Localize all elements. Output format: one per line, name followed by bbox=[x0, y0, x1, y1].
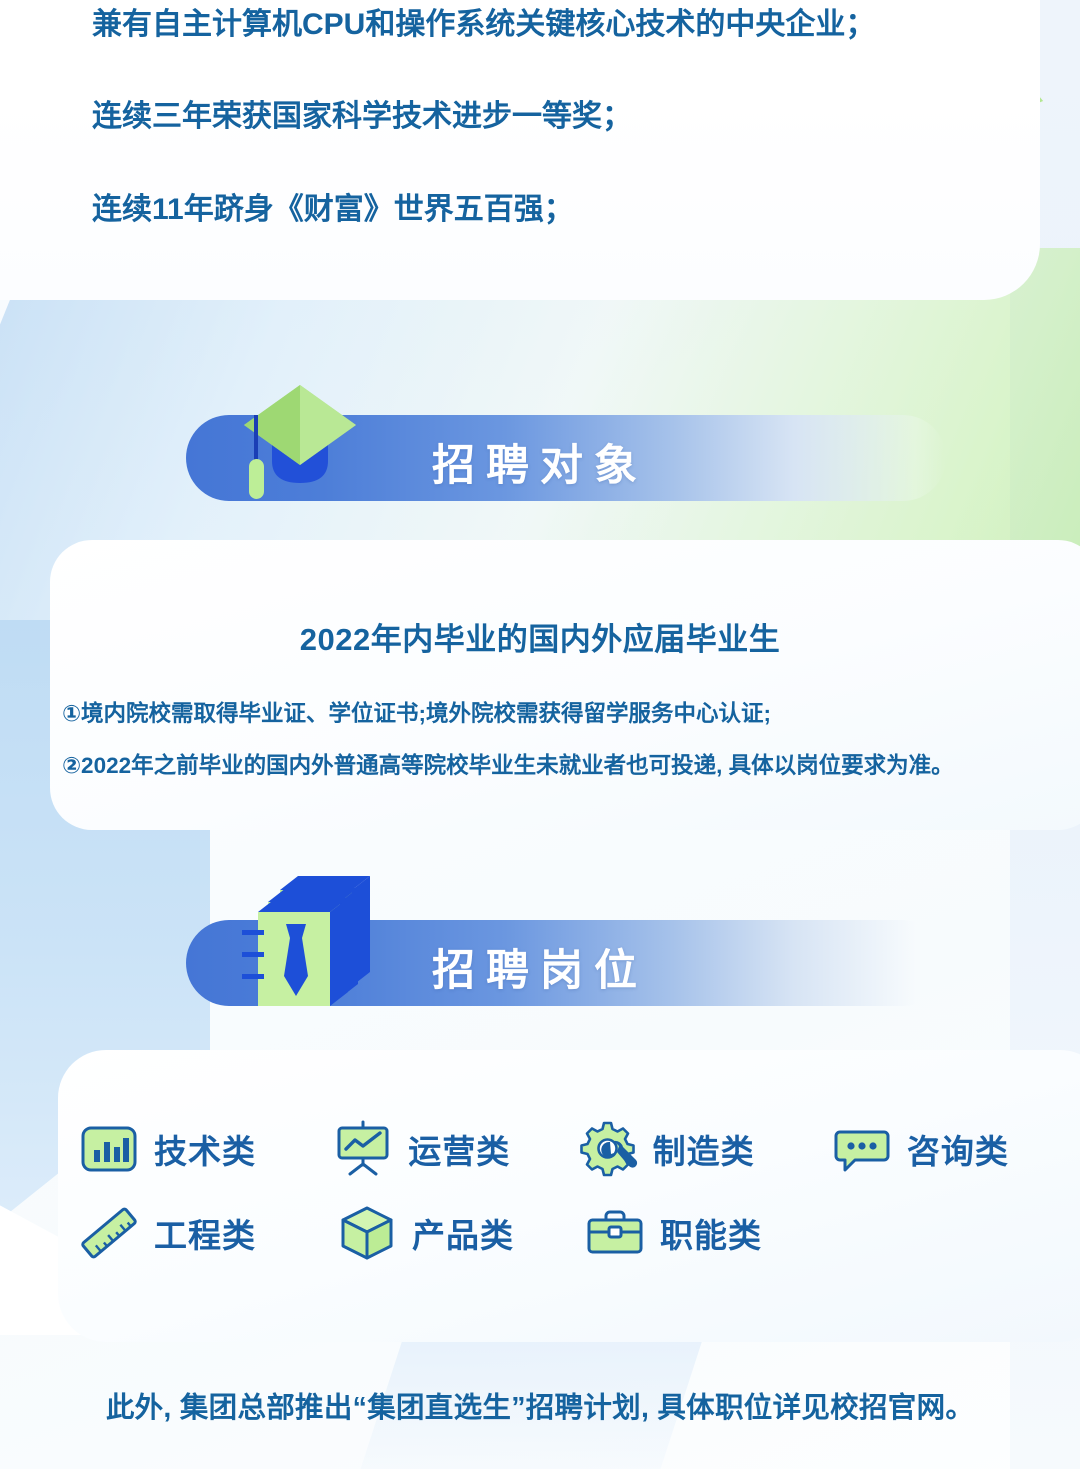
speech-bubble-icon bbox=[831, 1118, 893, 1180]
intro-text-block: 兼有自主计算机CPU和操作系统关键核心技术的中央企业； 连续三年荣获国家科学技术… bbox=[92, 6, 1032, 283]
job-category-grid: 技术类 运营类 bbox=[78, 1118, 1028, 1286]
job-category-label: 职能类 bbox=[660, 1209, 762, 1257]
target-note-2: ②2022年之前毕业的国内外普通高等院校毕业生未就业者也可投递, 具体以岗位要求… bbox=[62, 748, 1042, 780]
job-category-label: 运营类 bbox=[408, 1125, 510, 1173]
presentation-board-icon bbox=[332, 1118, 394, 1180]
bar-chart-icon bbox=[78, 1118, 140, 1180]
job-category-row: 技术类 运营类 bbox=[78, 1118, 1028, 1180]
target-note-1: ①境内院校需取得毕业证、学位证书;境外院校需获得留学服务中心认证; bbox=[62, 696, 1042, 728]
job-category-functional[interactable]: 职能类 bbox=[584, 1202, 784, 1264]
job-category-product[interactable]: 产品类 bbox=[336, 1202, 584, 1264]
cube-box-icon bbox=[336, 1202, 398, 1264]
job-category-consulting[interactable]: 咨询类 bbox=[831, 1118, 1028, 1180]
intro-line-2: 连续三年荣获国家科学技术进步一等奖； bbox=[92, 98, 1032, 136]
intro-line-3: 连续11年跻身《财富》世界五百强； bbox=[92, 191, 1032, 229]
banner-title-target: 招聘对象 bbox=[432, 431, 648, 493]
job-category-manufacturing[interactable]: 制造类 bbox=[577, 1118, 831, 1180]
job-category-label: 制造类 bbox=[653, 1125, 755, 1173]
toolbox-icon bbox=[584, 1202, 646, 1264]
section-banner-target: 招聘对象 bbox=[186, 415, 946, 501]
job-category-label: 咨询类 bbox=[907, 1125, 1009, 1173]
job-category-row: 工程类 产品类 bbox=[78, 1202, 1028, 1264]
ruler-icon bbox=[78, 1202, 140, 1264]
job-category-label: 工程类 bbox=[154, 1209, 256, 1257]
job-category-technology[interactable]: 技术类 bbox=[78, 1118, 332, 1180]
intro-line-1: 兼有自主计算机CPU和操作系统关键核心技术的中央企业； bbox=[92, 6, 1032, 44]
target-headline: 2022年内毕业的国内外应届毕业生 bbox=[0, 614, 1080, 659]
banner-title-positions: 招聘岗位 bbox=[432, 936, 648, 998]
gear-wrench-icon bbox=[577, 1118, 639, 1180]
job-category-label: 技术类 bbox=[154, 1125, 256, 1173]
recruitment-poster: 兼有自主计算机CPU和操作系统关键核心技术的中央企业； 连续三年荣获国家科学技术… bbox=[0, 0, 1080, 1469]
job-category-engineering[interactable]: 工程类 bbox=[78, 1202, 336, 1264]
books-with-tie-icon bbox=[234, 868, 380, 1014]
job-category-label: 产品类 bbox=[412, 1209, 514, 1257]
job-category-operations[interactable]: 运营类 bbox=[332, 1118, 576, 1180]
positions-footer-note: 此外, 集团总部推出“集团直选生”招聘计划, 具体职位详见校招官网。 bbox=[0, 1385, 1080, 1426]
graduation-cap-icon bbox=[222, 375, 372, 505]
target-card bbox=[50, 540, 1080, 830]
section-banner-positions: 招聘岗位 bbox=[186, 920, 946, 1006]
